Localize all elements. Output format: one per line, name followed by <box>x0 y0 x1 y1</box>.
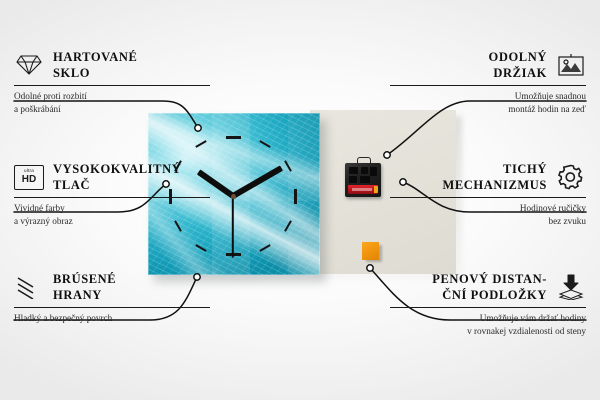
feature-header: PENOVÝ DISTAN-ČNÍ PODLOŽKY <box>390 270 586 304</box>
mechanism-detail-c <box>370 167 377 176</box>
feature-wall-hanger[interactable]: ODOLNÝDRŽIAK Umožňuje snadnoumontáž hodi… <box>390 48 586 116</box>
feature-foam-spacers[interactable]: PENOVÝ DISTAN-ČNÍ PODLOŽKY Umožňuje vám … <box>390 270 586 338</box>
feature-title: BRÚSENÉHRANY <box>53 271 116 304</box>
mechanism-detail-b <box>361 167 368 174</box>
polished-edges-icon <box>14 272 44 302</box>
feature-description: Umožňuje snadnoumontáž hodin na zeď <box>390 90 586 116</box>
infographic-canvas: HARTOVANÉSKLO Odolné proti rozbitía pošk… <box>0 0 600 400</box>
feature-description: Vividné farbya výrazný obraz <box>14 202 210 228</box>
feature-header: ODOLNÝDRŽIAK <box>390 48 586 82</box>
feature-title: VYSOKOKVALITNÝTLAČ <box>53 161 181 194</box>
feature-silent-mechanism[interactable]: TICHÝMECHANIZMUS Hodinové ručičkybez zvu… <box>390 160 586 228</box>
clock-tick <box>226 136 241 139</box>
feature-divider <box>390 307 586 308</box>
feature-hd-print[interactable]: ultra HD VYSOKOKVALITNÝTLAČ Vividné farb… <box>14 160 210 228</box>
feature-description: Hodinové ručičkybez zvuku <box>390 202 586 228</box>
feature-divider <box>390 197 586 198</box>
feature-description: Umožňuje vám držať hodinyv rovnakej vzdi… <box>390 312 586 338</box>
battery-label-stripe <box>352 188 372 191</box>
feature-description: Odolné proti rozbitía poškrábání <box>14 90 210 116</box>
gear-icon <box>556 162 586 192</box>
mechanism-battery <box>348 185 378 194</box>
feature-header: TICHÝMECHANIZMUS <box>390 160 586 194</box>
mechanism-detail-d <box>349 176 357 183</box>
feature-divider <box>14 197 210 198</box>
feature-header: HARTOVANÉSKLO <box>14 48 210 82</box>
feature-polished-edges[interactable]: BRÚSENÉHRANY Hladký a bezpečný povrch <box>14 270 210 325</box>
feature-divider <box>14 307 210 308</box>
feature-header: BRÚSENÉHRANY <box>14 270 210 304</box>
feature-header: ultra HD VYSOKOKVALITNÝTLAČ <box>14 160 210 194</box>
mechanism-detail-e <box>360 176 370 183</box>
foam-spacer-icon <box>556 272 586 302</box>
feature-divider <box>14 85 210 86</box>
ultra-hd-icon: ultra HD <box>14 162 44 192</box>
feature-title: HARTOVANÉSKLO <box>53 49 137 82</box>
clock-center-pin <box>231 194 236 199</box>
battery-positive-tip <box>374 186 378 193</box>
foam-spacer-pad <box>362 242 379 260</box>
feature-divider <box>390 85 586 86</box>
hd-main-label: HD <box>22 175 36 185</box>
mechanism-detail-a <box>349 167 358 174</box>
feature-description: Hladký a bezpečný povrch <box>14 312 210 325</box>
picture-frame-icon <box>556 50 586 80</box>
feature-tempered-glass[interactable]: HARTOVANÉSKLO Odolné proti rozbitía pošk… <box>14 48 210 116</box>
clock-mechanism <box>345 163 381 197</box>
feature-title: PENOVÝ DISTAN-ČNÍ PODLOŽKY <box>432 271 547 304</box>
feature-title: ODOLNÝDRŽIAK <box>489 49 547 82</box>
second-hand <box>232 196 234 258</box>
diamond-icon <box>14 50 44 80</box>
feature-title: TICHÝMECHANIZMUS <box>442 161 547 194</box>
clock-tick <box>294 189 297 204</box>
